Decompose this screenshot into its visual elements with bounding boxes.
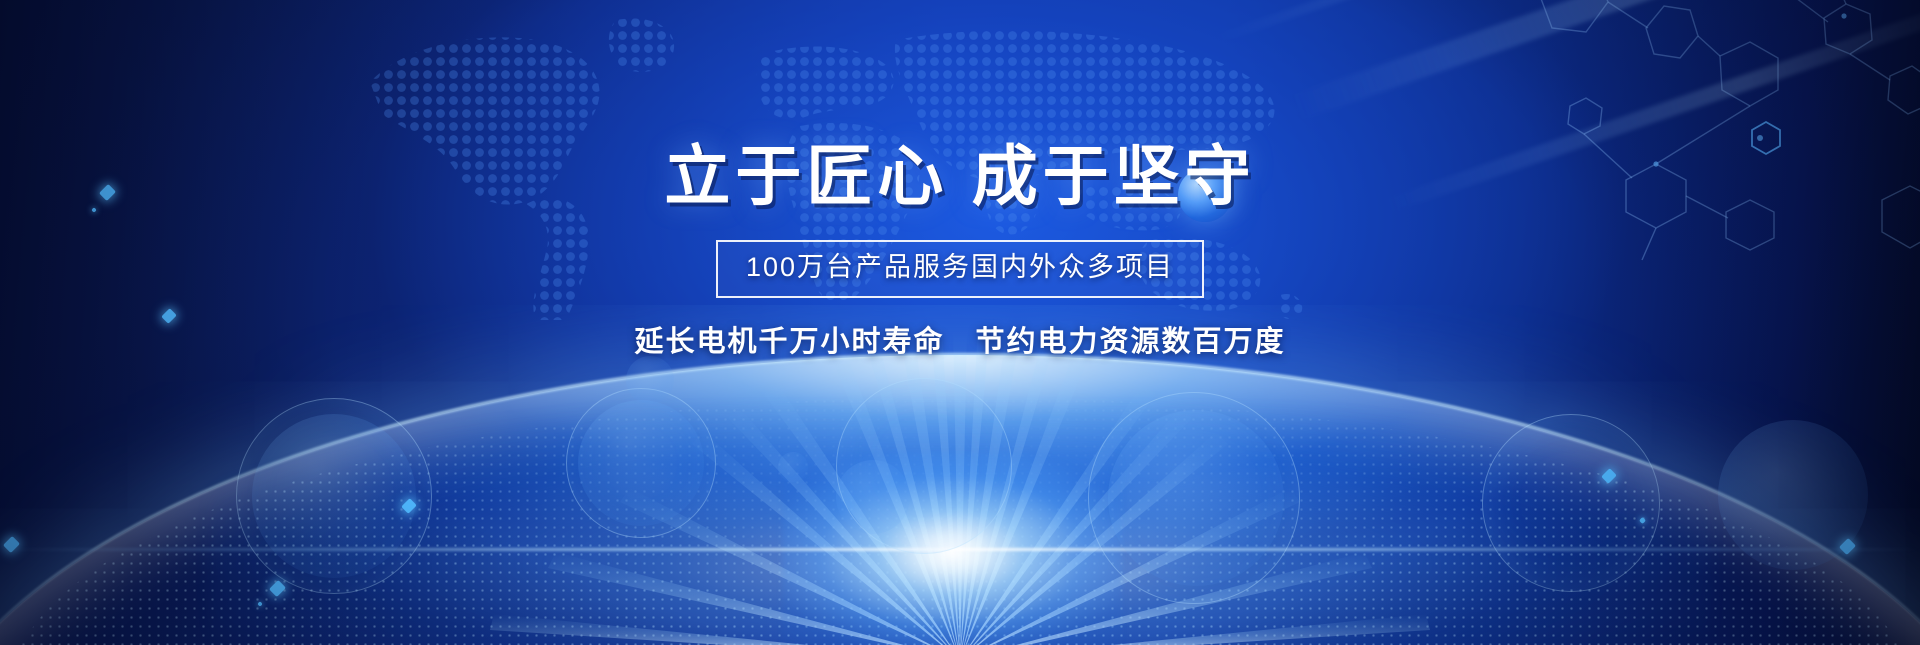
banner-headline: 立于匠心 成于坚守	[0, 0, 1920, 214]
hero-banner: 立于匠心 成于坚守 100万台产品服务国内外众多项目 延长电机千万小时寿命 节约…	[0, 0, 1920, 645]
banner-subtitle-box: 100万台产品服务国内外众多项目	[716, 240, 1204, 298]
banner-tagline: 延长电机千万小时寿命 节约电力资源数百万度	[0, 324, 1920, 362]
banner-content: 立于匠心 成于坚守 100万台产品服务国内外众多项目 延长电机千万小时寿命 节约…	[0, 0, 1920, 361]
